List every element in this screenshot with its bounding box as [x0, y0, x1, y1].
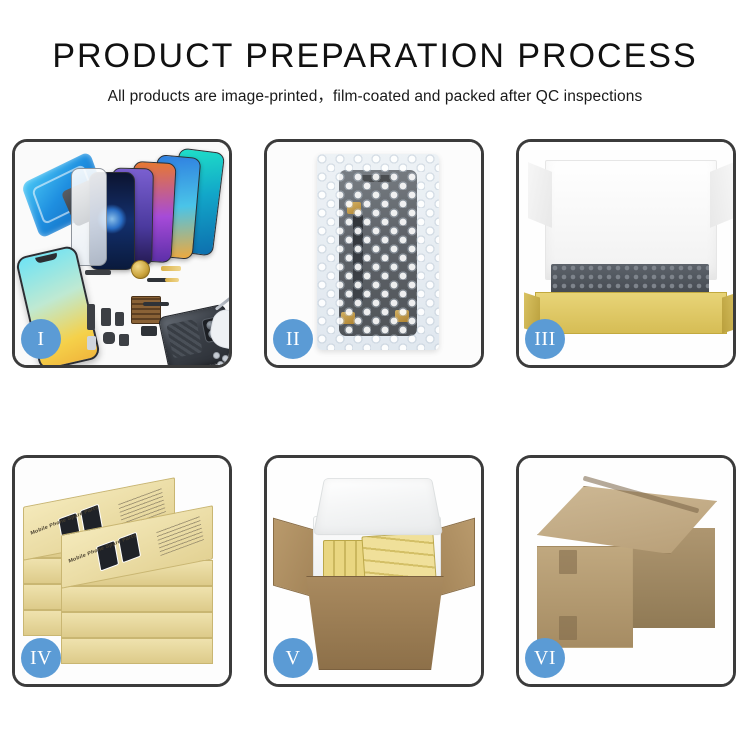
- box-spec-lines: [156, 515, 204, 556]
- logic-board-icon: [131, 296, 161, 324]
- page-title: PRODUCT PREPARATION PROCESS: [0, 38, 750, 75]
- page-subtitle: All products are image-printed，film-coat…: [0, 84, 750, 106]
- part-icon: [115, 312, 124, 326]
- tape-icon: [559, 550, 577, 574]
- part-icon: [87, 336, 96, 350]
- step-panel-1: I: [12, 139, 232, 368]
- carton-body-icon: [297, 576, 453, 670]
- styrofoam-lid-icon: [313, 478, 443, 535]
- flex-cable-icon: [161, 266, 181, 271]
- step-panel-4: Mobile Phone Spare Parts Mobile Phone: [12, 455, 232, 687]
- page-header: PRODUCT PREPARATION PROCESS All products…: [0, 0, 750, 106]
- step-panel-6: VI: [516, 455, 736, 687]
- screw-icon: [217, 361, 224, 365]
- step-panel-3: III: [516, 139, 736, 368]
- step-badge-6: VI: [525, 638, 565, 678]
- part-icon: [119, 334, 129, 346]
- flex-cable-icon: [165, 278, 179, 282]
- step-badge-5: V: [273, 638, 313, 678]
- flex-cable-icon: [143, 302, 169, 306]
- step-badge-2: II: [273, 319, 313, 359]
- part-icon: [141, 326, 157, 336]
- carton-front-face: [537, 546, 633, 648]
- product-preparation-page: PRODUCT PREPARATION PROCESS All products…: [0, 0, 750, 750]
- bubble-texture: [317, 154, 439, 350]
- kraft-box-tray-icon: [535, 292, 727, 334]
- step-badge-4: IV: [21, 638, 61, 678]
- step-badge-3: III: [525, 319, 565, 359]
- speaker-module-icon: [131, 260, 150, 279]
- spare-parts-cluster: [85, 260, 229, 365]
- box-edge: [61, 638, 213, 664]
- step-panel-5: V: [264, 455, 484, 687]
- tape-icon: [559, 616, 577, 640]
- box-edge: [61, 612, 213, 638]
- step-badge-1: I: [21, 319, 61, 359]
- part-icon: [85, 270, 111, 275]
- mainboard-icon: [166, 319, 202, 358]
- screw-icon: [222, 355, 229, 362]
- bubble-wrap-bag-icon: [317, 154, 439, 350]
- part-icon: [103, 332, 115, 344]
- screw-icon: [213, 352, 220, 359]
- process-steps-grid: I II: [12, 139, 738, 687]
- box-edge: [61, 586, 213, 612]
- step-panel-2: II: [264, 139, 484, 368]
- part-icon: [87, 304, 95, 330]
- box-lid-icon: [545, 160, 717, 280]
- part-icon: [101, 308, 111, 326]
- box-stack: Mobile Phone Spare Parts Mobile Phone: [23, 476, 227, 664]
